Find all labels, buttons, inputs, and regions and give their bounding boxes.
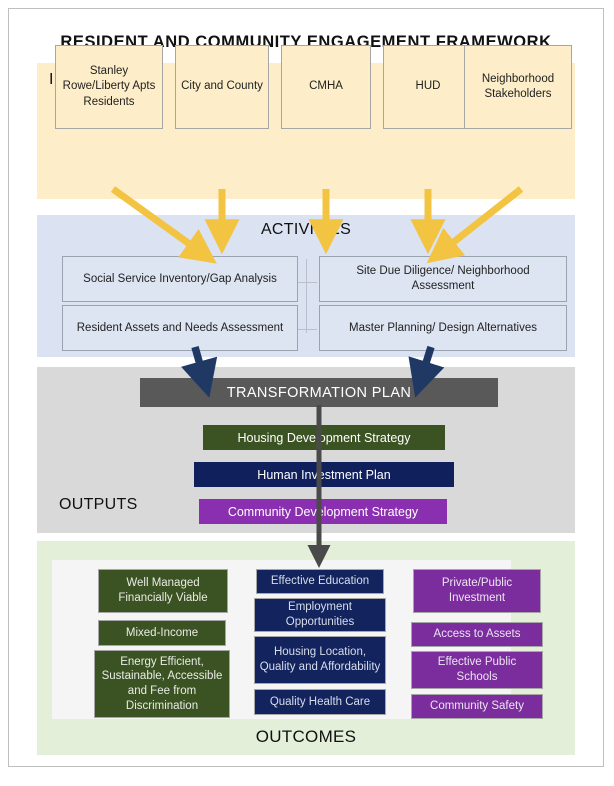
outcome-employment-opportunities[interactable]: Employment Opportunities [254,598,386,632]
outcome-quality-health-care[interactable]: Quality Health Care [254,689,386,715]
outcome-housing-location-quality[interactable]: Housing Location, Quality and Affordabil… [254,636,386,684]
activity-box-social-service-inventory[interactable]: Social Service Inventory/Gap Analysis [62,256,298,302]
input-box-cmha[interactable]: CMHA [281,45,371,129]
outcome-well-managed[interactable]: Well Managed Financially Viable [98,569,228,613]
outcome-private-public-investment[interactable]: Private/Public Investment [413,569,541,613]
activities-connector-stub-right-bottom [307,329,317,330]
outcome-access-to-assets[interactable]: Access to Assets [411,622,543,647]
strategy-bar-housing-development[interactable]: Housing Development Strategy [203,425,445,450]
activities-connector-stub-right-top [307,282,317,283]
outputs-label: OUTPUTS [59,496,138,514]
strategy-bar-community-development[interactable]: Community Development Strategy [199,499,447,524]
transformation-plan-bar[interactable]: TRANSFORMATION PLAN [140,378,498,407]
activity-box-site-due-diligence[interactable]: Site Due Diligence/ Neighborhood Assessm… [319,256,567,302]
outcome-effective-public-schools[interactable]: Effective Public Schools [411,651,543,689]
activities-connector-stub-left-bottom [297,329,307,330]
activities-connector-line [306,259,307,333]
input-box-hud[interactable]: HUD [383,45,473,129]
strategy-bar-human-investment[interactable]: Human Investment Plan [194,462,454,487]
activity-box-master-planning[interactable]: Master Planning/ Design Alternatives [319,305,567,351]
outcome-mixed-income[interactable]: Mixed-Income [98,620,226,646]
activities-label: ACTIVITIES [37,221,575,239]
outcome-effective-education[interactable]: Effective Education [256,569,384,594]
outcome-community-safety[interactable]: Community Safety [411,694,543,719]
input-box-residents[interactable]: Stanley Rowe/Liberty Apts Residents [55,45,163,129]
input-box-city-county[interactable]: City and County [175,45,269,129]
activities-connector-stub-left-top [297,282,307,283]
framework-diagram: RESIDENT AND COMMUNITY ENGAGEMENT FRAMEW… [8,8,604,767]
input-box-neighborhood[interactable]: Neighborhood Stakeholders [464,45,572,129]
outcomes-label: OUTCOMES [37,727,575,747]
activity-box-resident-assets-needs[interactable]: Resident Assets and Needs Assessment [62,305,298,351]
outcome-energy-efficient[interactable]: Energy Efficient, Sustainable, Accessibl… [94,650,230,718]
